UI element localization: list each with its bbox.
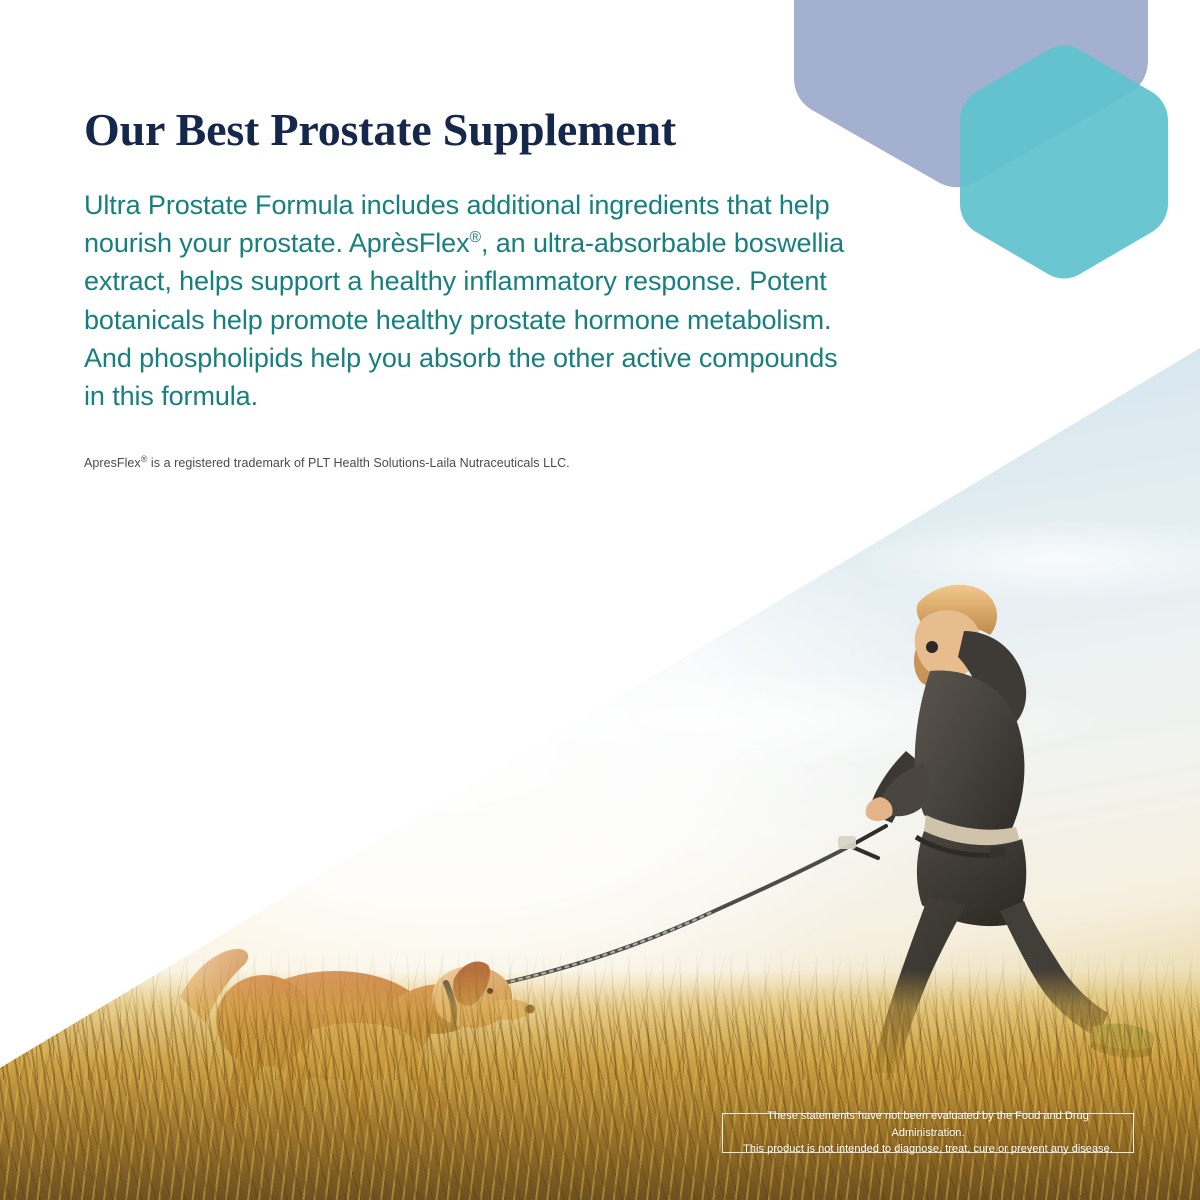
trademark-note: ApresFlex® is a registered trademark of … — [84, 455, 874, 473]
trademark-note-text: is a registered trademark of PLT Health … — [147, 456, 569, 470]
page-title: Our Best Prostate Supplement — [84, 104, 874, 156]
registered-trademark-symbol: ® — [470, 229, 481, 246]
content-block: Our Best Prostate Supplement Ultra Prost… — [84, 104, 874, 473]
fda-disclaimer-line-1: These statements have not been evaluated… — [731, 1108, 1125, 1141]
trademark-brand: ApresFlex — [84, 456, 141, 470]
body-copy: Ultra Prostate Formula includes addition… — [84, 186, 864, 416]
promo-page: Our Best Prostate Supplement Ultra Prost… — [0, 0, 1200, 1200]
grass-texture — [0, 985, 1200, 1200]
fda-disclaimer: These statements have not been evaluated… — [722, 1113, 1134, 1153]
teal-hexagon — [960, 46, 1168, 279]
fda-disclaimer-line-2: This product is not intended to diagnose… — [743, 1141, 1113, 1158]
